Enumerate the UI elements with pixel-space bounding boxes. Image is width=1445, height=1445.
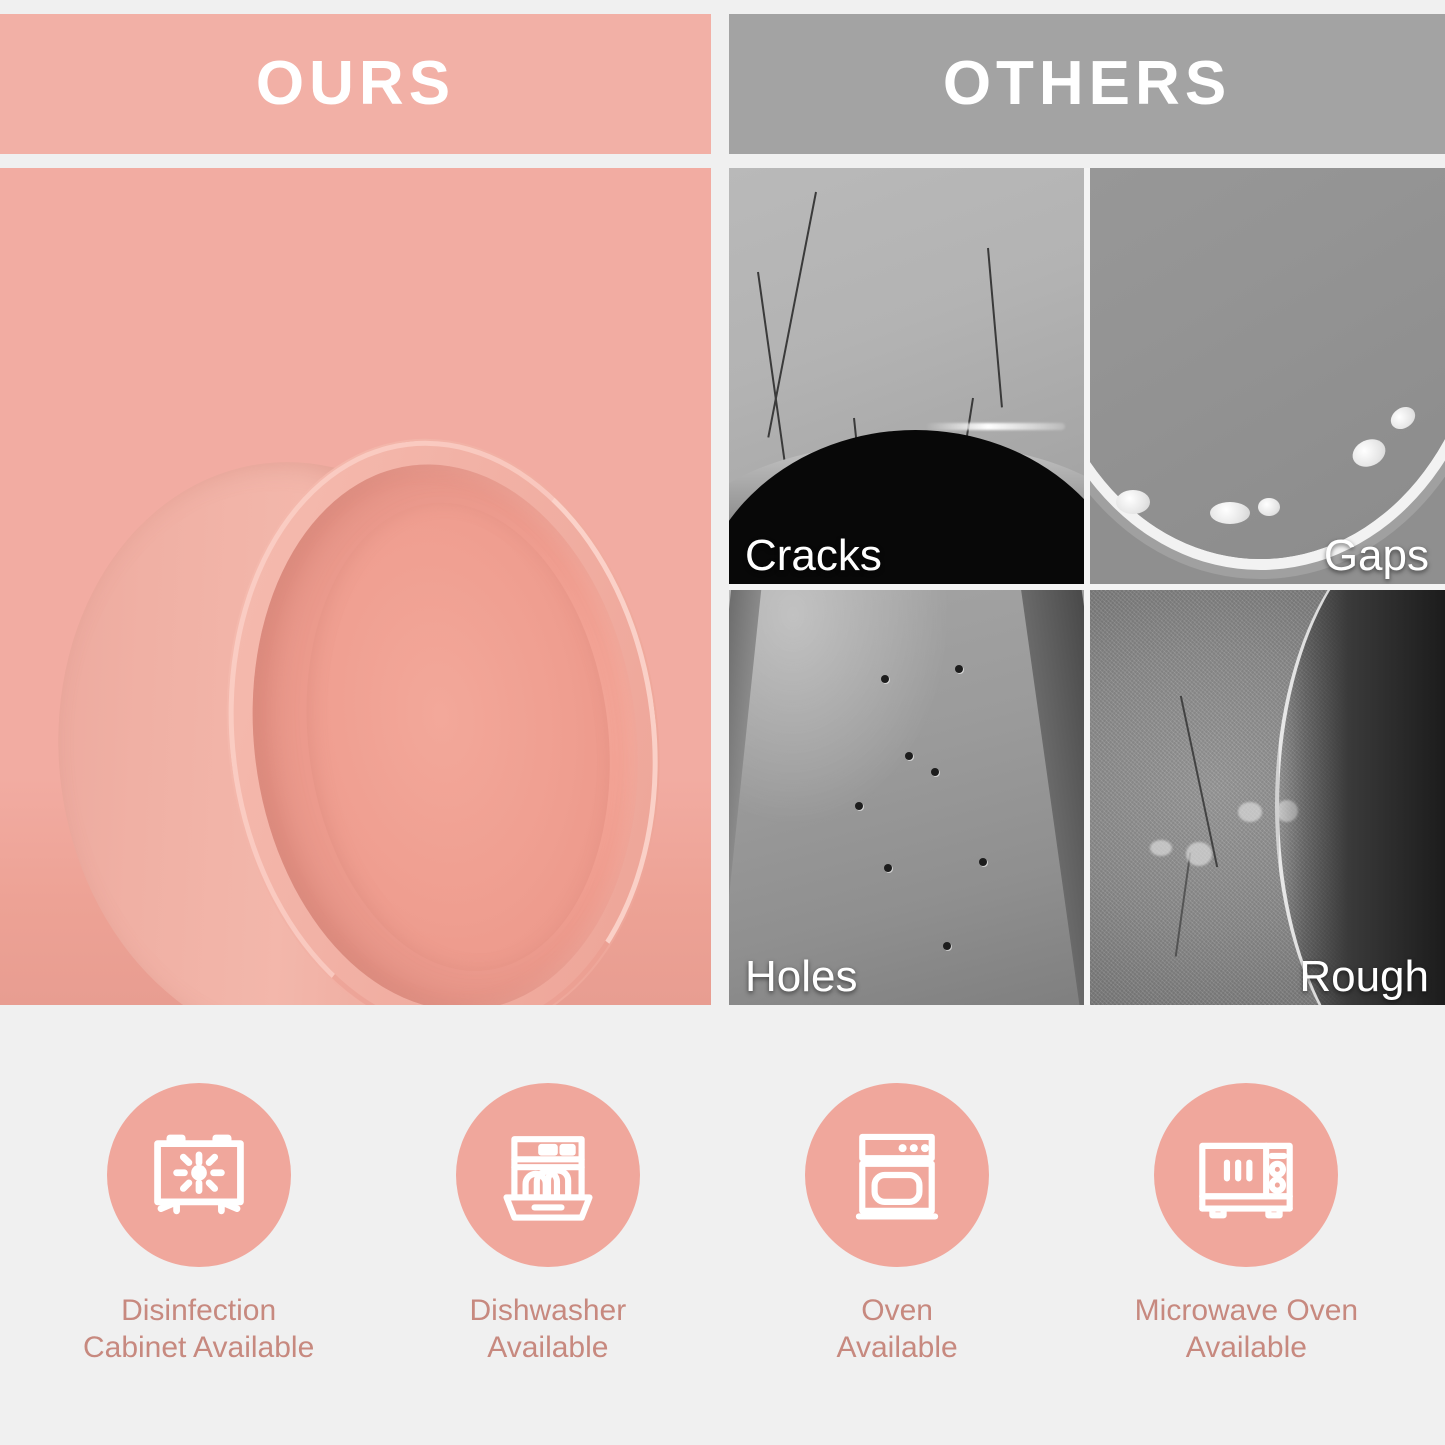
defect-label-gaps: Gaps [1324, 534, 1429, 578]
pinhole [855, 802, 863, 810]
pinhole [979, 858, 987, 866]
ours-header-label: OURS [256, 53, 455, 115]
surface-blemish [1238, 802, 1262, 822]
pinhole [931, 768, 939, 776]
feature-caption: Disinfection Cabinet Available [83, 1293, 314, 1366]
feature-caption: Microwave Oven Available [1135, 1293, 1358, 1366]
others-header-label: OTHERS [943, 53, 1231, 115]
dark-curved-rim [1275, 590, 1445, 1006]
feature-oven: Oven Available [732, 1083, 1062, 1366]
pinhole [943, 942, 951, 950]
rim-specular-highlight [925, 423, 1065, 430]
feature-caption: Oven Available [837, 1293, 958, 1366]
ours-product-photo [0, 168, 711, 1005]
defect-cell-cracks: Cracks [729, 168, 1084, 584]
defect-cell-holes: Holes [729, 590, 1084, 1006]
feature-dishwasher: Dishwasher Available [383, 1083, 713, 1366]
feature-icon-circle [107, 1083, 291, 1267]
rim-gap-bump [1210, 502, 1250, 524]
feature-microwave-oven: Microwave Oven Available [1081, 1083, 1411, 1366]
comparison-section: OURS OTHERS Cracks [0, 0, 1445, 1005]
microwave-oven-icon [1190, 1119, 1302, 1231]
defect-label-rough: Rough [1299, 955, 1429, 999]
defect-cell-gaps: Gaps [1090, 168, 1445, 584]
defect-label-cracks: Cracks [745, 534, 882, 578]
pinhole [884, 864, 892, 872]
others-header-band: OTHERS [729, 14, 1445, 154]
rim-gap-bump [1258, 498, 1280, 516]
feature-icon-circle [805, 1083, 989, 1267]
defect-label-holes: Holes [745, 955, 858, 999]
pinhole [905, 752, 913, 760]
dishwasher-icon [492, 1119, 604, 1231]
feature-icon-circle [456, 1083, 640, 1267]
feature-icon-circle [1154, 1083, 1338, 1267]
silicone-cake-pan [24, 414, 695, 1005]
disinfection-cabinet-icon [143, 1119, 255, 1231]
feature-caption: Dishwasher Available [470, 1293, 627, 1366]
surface-blemish [1186, 842, 1212, 866]
others-defect-grid: Cracks Gaps Holes [729, 168, 1445, 1005]
rim-gap-bump [1116, 490, 1150, 514]
pinhole [955, 665, 963, 673]
oven-icon [841, 1119, 953, 1231]
ours-header-band: OURS [0, 14, 711, 154]
feature-badges-section: Disinfection Cabinet Available Dis [0, 1005, 1445, 1445]
pinhole [881, 675, 889, 683]
defect-cell-rough: Rough [1090, 590, 1445, 1006]
feature-disinfection-cabinet: Disinfection Cabinet Available [34, 1083, 364, 1366]
surface-blemish [1150, 840, 1172, 856]
